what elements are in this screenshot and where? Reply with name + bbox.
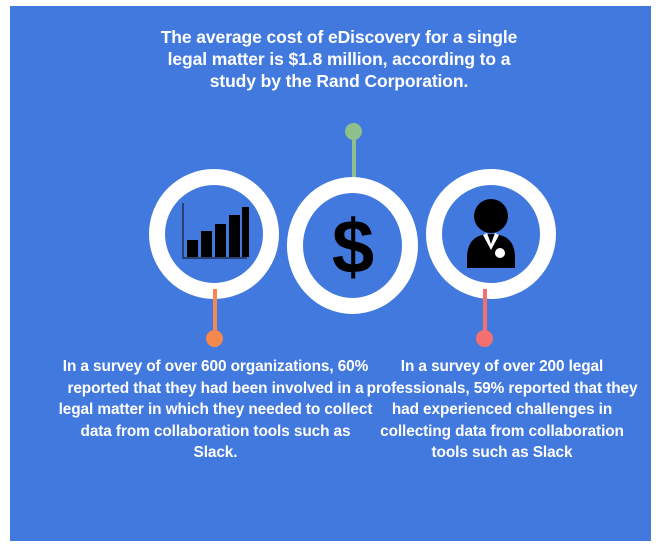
headline-text: The average cost of eDiscovery for a sin… (158, 26, 520, 92)
connector-line-center (345, 123, 362, 185)
stat-circle-bar-chart (149, 169, 279, 299)
connector-dot-left (206, 330, 223, 347)
svg-text:$: $ (331, 207, 373, 285)
stat-circle-person (426, 169, 556, 299)
bar-chart-icon (179, 201, 249, 267)
connector-line-left (206, 289, 223, 347)
infographic-canvas: The average cost of eDiscovery for a sin… (10, 6, 651, 541)
stat-circle-dollar: $ (287, 177, 418, 314)
connector-dot-center (345, 123, 362, 140)
dollar-sign-icon: $ (319, 207, 387, 285)
stat-blurb-right: In a survey of over 200 legal profession… (362, 356, 642, 464)
connector-dot-right (476, 330, 493, 347)
connector-line-right (476, 289, 493, 347)
stat-blurb-left: In a survey of over 600 organizations, 6… (58, 356, 373, 464)
businessman-icon (459, 198, 523, 270)
